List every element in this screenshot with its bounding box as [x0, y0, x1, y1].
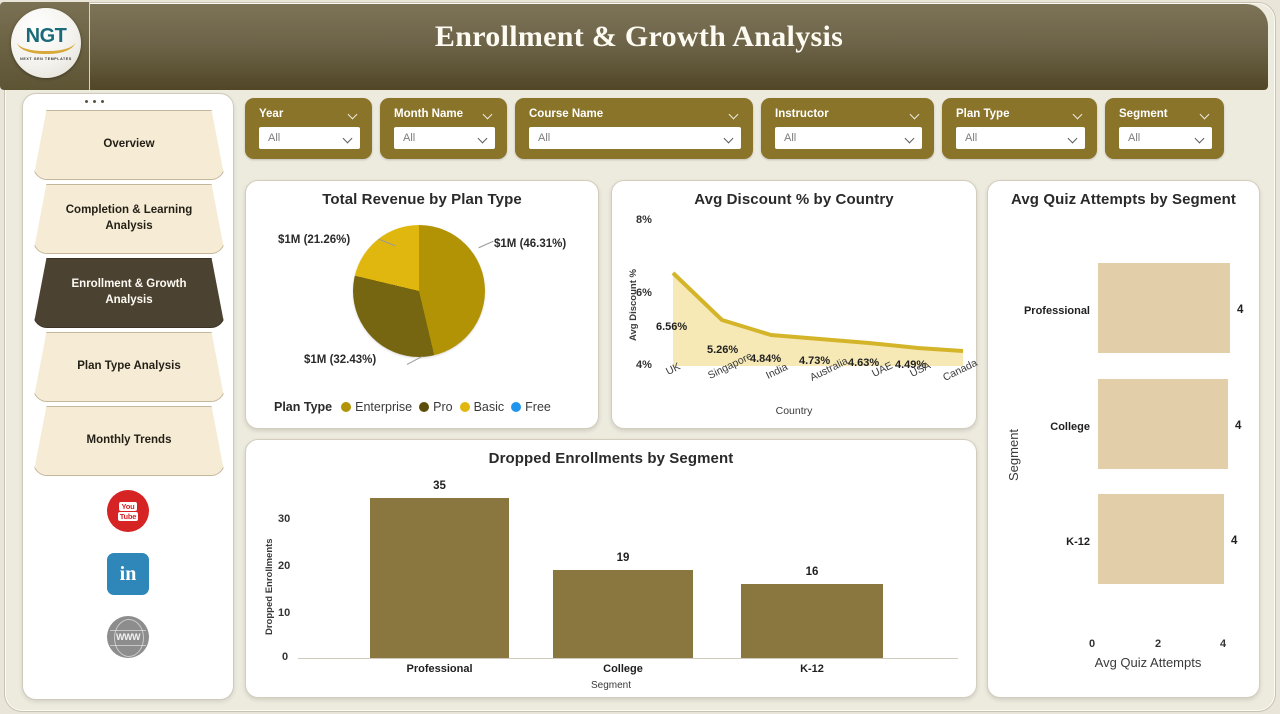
chart-card-avg-discount-by-country[interactable]: Avg Discount % by Country Avg Discount %… — [611, 180, 977, 429]
slicer-course-name-input[interactable]: All — [529, 127, 741, 149]
youtube-line1: You — [119, 502, 136, 511]
bar-professional[interactable] — [370, 498, 509, 658]
data-label: 6.56% — [656, 321, 687, 333]
legend-label: Free — [525, 400, 551, 414]
x-tick: 4 — [1220, 638, 1226, 650]
chart-title: Avg Discount % by Country — [612, 181, 976, 208]
logo-circle-icon: NGT NEXT GEN TEMPLATES — [11, 8, 81, 78]
slicer-year-value: All — [268, 132, 280, 144]
slicer-course-name-value: All — [538, 132, 550, 144]
slicer-plan-type-input[interactable]: All — [956, 127, 1085, 149]
data-label: 4 — [1231, 535, 1237, 547]
bar-k-12[interactable] — [1098, 494, 1224, 584]
x-axis-line — [298, 658, 958, 659]
slicer-month-name-value: All — [403, 132, 415, 144]
bar-college[interactable] — [1098, 379, 1228, 469]
legend-label: Pro — [433, 400, 452, 414]
sidebar-item-label: Plan Type Analysis — [77, 359, 181, 375]
y-axis-title: Avg Discount % — [628, 269, 639, 341]
bar-college[interactable] — [553, 570, 693, 658]
bar-k-12[interactable] — [741, 584, 883, 658]
y-tick: 30 — [278, 513, 290, 525]
slicer-segment-value: All — [1128, 132, 1140, 144]
y-tick: College — [1004, 421, 1090, 433]
brand-logo: NGT NEXT GEN TEMPLATES — [0, 2, 90, 90]
y-tick: 8% — [636, 214, 652, 226]
chevron-down-icon[interactable] — [1069, 134, 1078, 143]
youtube-line2: Tube — [118, 512, 139, 521]
slicer-course-name-label: Course Name — [529, 108, 603, 120]
y-tick: K-12 — [1004, 536, 1090, 548]
sidebar-item-plan-type-analysis[interactable]: Plan Type Analysis — [33, 332, 225, 402]
legend-label: Enterprise — [355, 400, 412, 414]
y-tick: 4% — [636, 359, 652, 371]
slicer-month-name-input[interactable]: All — [394, 127, 495, 149]
data-label: 35 — [370, 480, 509, 492]
slicer-month-name-header: Month Name — [394, 108, 495, 120]
slicer-segment-header: Segment — [1119, 108, 1212, 120]
website-globe-icon[interactable]: WWW — [107, 616, 149, 658]
sidebar-item-monthly-trends[interactable]: Monthly Trends — [33, 406, 225, 476]
slicer-instructor-label: Instructor — [775, 108, 829, 120]
chart-title: Avg Quiz Attempts by Segment — [988, 181, 1259, 208]
x-axis-title: Avg Quiz Attempts — [1048, 655, 1248, 670]
slicer-month-name-label: Month Name — [394, 108, 463, 120]
slicer-plan-type-value: All — [965, 132, 977, 144]
linkedin-icon[interactable]: in — [107, 553, 149, 595]
pie-legend: Plan Type Enterprise Pro Basic Free — [274, 400, 551, 414]
y-tick: 0 — [282, 651, 288, 663]
linkedin-label: in — [120, 563, 137, 586]
chevron-down-icon[interactable] — [1074, 110, 1083, 119]
y-tick: 6% — [636, 287, 652, 299]
logo-text: NGT — [26, 26, 67, 46]
sidebar-item-label: Monthly Trends — [87, 433, 172, 449]
data-label: 4 — [1235, 420, 1241, 432]
page-title: Enrollment & Growth Analysis — [10, 20, 1268, 54]
legend-swatch-icon — [341, 402, 351, 412]
sidebar-nav: Overview Completion & Learning Analysis … — [33, 110, 225, 480]
dashboard-page: Enrollment & Growth Analysis NGT NEXT GE… — [0, 0, 1280, 714]
legend-item-enterprise[interactable]: Enterprise — [341, 400, 412, 414]
sidebar-item-completion-learning-analysis[interactable]: Completion & Learning Analysis — [33, 184, 225, 254]
pie-slice-label-pro: $1M (32.43%) — [304, 354, 376, 366]
chevron-down-icon[interactable] — [344, 134, 353, 143]
chart-card-total-revenue-by-plan-type[interactable]: Total Revenue by Plan Type $1M (46.31%) … — [245, 180, 599, 429]
chevron-down-icon[interactable] — [906, 134, 915, 143]
pie-chart[interactable] — [353, 225, 485, 357]
legend-swatch-icon — [460, 402, 470, 412]
x-tick: 0 — [1089, 638, 1095, 650]
sidebar-item-label: Overview — [103, 137, 154, 153]
x-axis-title: Segment — [246, 680, 976, 691]
slicer-plan-type[interactable]: Plan Type All — [942, 98, 1097, 159]
legend-swatch-icon — [419, 402, 429, 412]
slicer-plan-type-header: Plan Type — [956, 108, 1085, 120]
slicer-course-name-header: Course Name — [529, 108, 741, 120]
slicer-segment[interactable]: Segment All — [1105, 98, 1224, 159]
slicer-instructor-header: Instructor — [775, 108, 922, 120]
pie-leader-line — [478, 241, 493, 248]
chevron-down-icon[interactable] — [479, 134, 488, 143]
slicer-instructor-value: All — [784, 132, 796, 144]
y-tick: Professional — [1004, 305, 1090, 317]
data-label: 16 — [741, 566, 883, 578]
x-tick: 2 — [1155, 638, 1161, 650]
sidebar-item-overview[interactable]: Overview — [33, 110, 225, 180]
slicer-year-input[interactable]: All — [259, 127, 360, 149]
y-axis-title: Segment — [1006, 429, 1021, 481]
legend-swatch-icon — [511, 402, 521, 412]
legend-title: Plan Type — [274, 400, 332, 414]
slicer-plan-type-label: Plan Type — [956, 108, 1009, 120]
y-axis-title: Dropped Enrollments — [264, 538, 275, 635]
chevron-down-icon[interactable] — [1196, 134, 1205, 143]
legend-item-pro[interactable]: Pro — [419, 400, 452, 414]
more-options-icon[interactable] — [85, 100, 104, 103]
website-label: WWW — [116, 632, 140, 642]
sidebar-item-label: Enrollment & Growth Analysis — [56, 277, 202, 308]
chart-card-avg-quiz-attempts-by-segment[interactable]: Avg Quiz Attempts by Segment Segment Pro… — [987, 180, 1260, 698]
legend-item-basic[interactable]: Basic — [460, 400, 505, 414]
data-label: 19 — [553, 552, 693, 564]
slicer-year-label: Year — [259, 108, 283, 120]
slicer-year-header: Year — [259, 108, 360, 120]
y-tick: 10 — [278, 607, 290, 619]
x-tick: K-12 — [741, 663, 883, 675]
chart-title: Total Revenue by Plan Type — [246, 181, 598, 208]
pie-leader-line — [407, 356, 422, 365]
chevron-down-icon[interactable] — [730, 110, 739, 119]
data-label: 5.26% — [707, 344, 738, 356]
chevron-down-icon[interactable] — [1201, 110, 1210, 119]
social-links: You Tube in WWW — [23, 490, 233, 658]
slicer-year[interactable]: Year All — [245, 98, 372, 159]
x-tick: College — [553, 663, 693, 675]
chevron-down-icon[interactable] — [349, 110, 358, 119]
chevron-down-icon[interactable] — [484, 110, 493, 119]
chevron-down-icon[interactable] — [911, 110, 920, 119]
x-tick: Professional — [370, 663, 509, 675]
legend-label: Basic — [474, 400, 505, 414]
pie-slice-label-enterprise: $1M (46.31%) — [494, 238, 566, 250]
sidebar-item-label: Completion & Learning Analysis — [56, 203, 202, 234]
x-axis-title: Country — [612, 405, 976, 417]
app-header: Enrollment & Growth Analysis — [10, 4, 1268, 90]
y-tick: 20 — [278, 560, 290, 572]
bar-professional[interactable] — [1098, 263, 1230, 353]
legend-item-free[interactable]: Free — [511, 400, 551, 414]
filter-bar: Year All Month Name All Course Name — [245, 98, 1224, 159]
slicer-segment-label: Segment — [1119, 108, 1168, 120]
slicer-month-name[interactable]: Month Name All — [380, 98, 507, 159]
chart-title: Dropped Enrollments by Segment — [246, 440, 976, 467]
chevron-down-icon[interactable] — [725, 134, 734, 143]
sidebar: Overview Completion & Learning Analysis … — [22, 93, 234, 700]
youtube-icon[interactable]: You Tube — [107, 490, 149, 532]
data-label: 4.84% — [750, 353, 781, 365]
sidebar-item-enrollment-growth-analysis[interactable]: Enrollment & Growth Analysis — [33, 258, 225, 328]
logo-subtitle: NEXT GEN TEMPLATES — [20, 57, 72, 61]
chart-card-dropped-enrollments-by-segment[interactable]: Dropped Enrollments by Segment Dropped E… — [245, 439, 977, 698]
pie-slice-label-basic: $1M (21.26%) — [278, 234, 350, 246]
slicer-course-name[interactable]: Course Name All — [515, 98, 753, 159]
slicer-instructor-input[interactable]: All — [775, 127, 922, 149]
slicer-segment-input[interactable]: All — [1119, 127, 1212, 149]
slicer-instructor[interactable]: Instructor All — [761, 98, 934, 159]
data-label: 4 — [1237, 304, 1243, 316]
